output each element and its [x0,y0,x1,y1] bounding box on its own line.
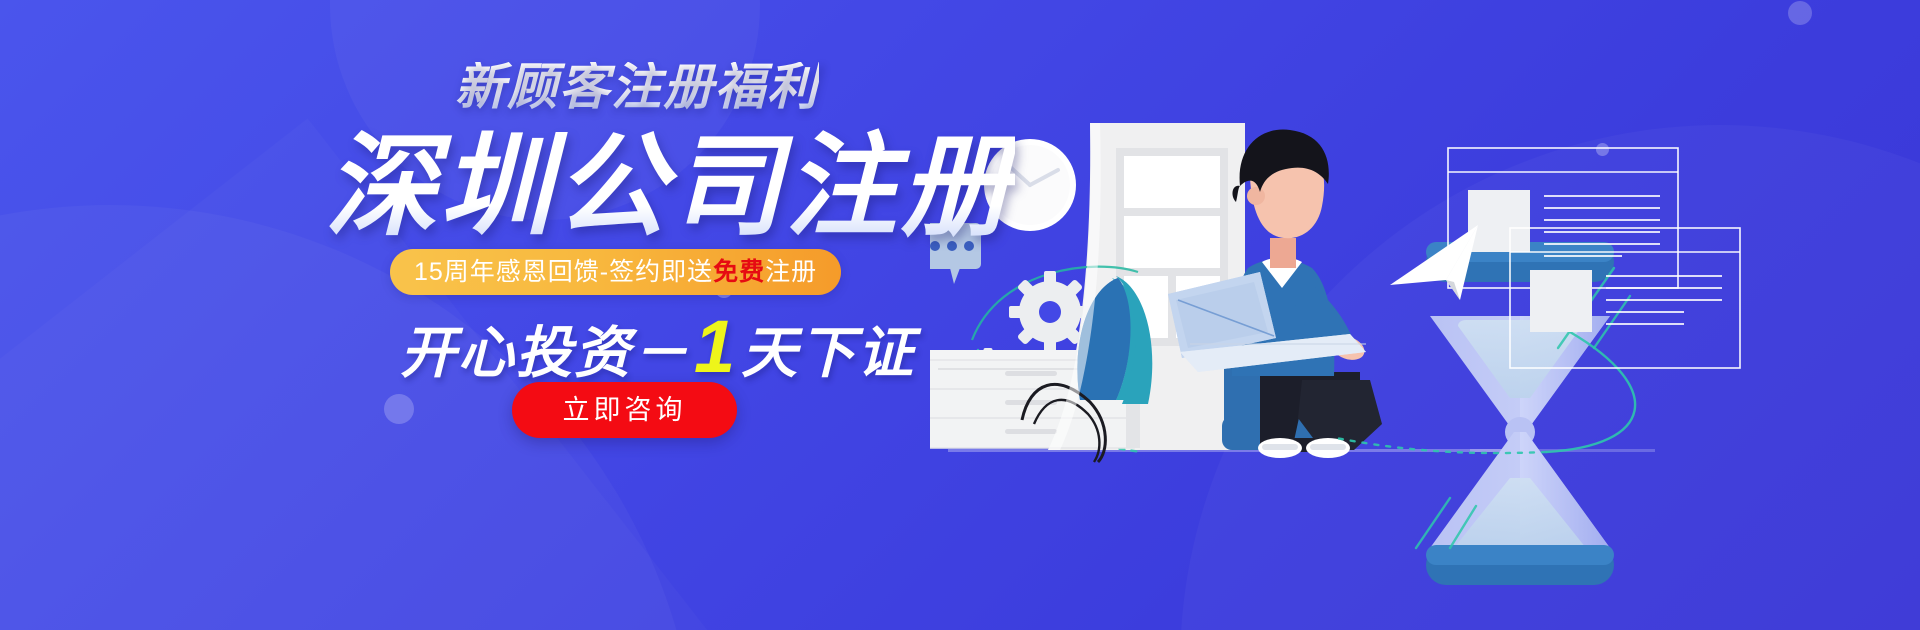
banner-eyebrow: 新顾客注册福利 [455,62,819,112]
promo-pill-prefix: 15周年感恩回馈-签约即送 [414,258,713,286]
tagline-prefix: 开心投资－ [400,322,690,384]
promo-pill: 15周年感恩回馈-签约即送免费注册 [390,249,841,295]
illustration [930,0,1920,630]
consult-now-button-label: 立即咨询 [563,397,687,424]
promo-pill-text: 15周年感恩回馈-签约即送免费注册 [414,260,817,285]
tagline-suffix: 天下证 [741,322,915,384]
promo-pill-highlight: 免费 [713,258,765,286]
consult-now-button[interactable]: 立即咨询 [512,382,737,438]
banner-tagline: 开心投资－ 1 天下证 [400,310,915,384]
banner-headline: 深圳公司注册 [325,125,1015,248]
promo-pill-suffix: 注册 [765,258,817,286]
promo-banner: 新顾客注册福利 深圳公司注册 15周年感恩回馈-签约即送免费注册 开心投资－ 1… [0,0,1920,630]
banner-copy: 新顾客注册福利 深圳公司注册 15周年感恩回馈-签约即送免费注册 开心投资－ 1… [0,0,1040,630]
tagline-number: 1 [690,310,741,384]
